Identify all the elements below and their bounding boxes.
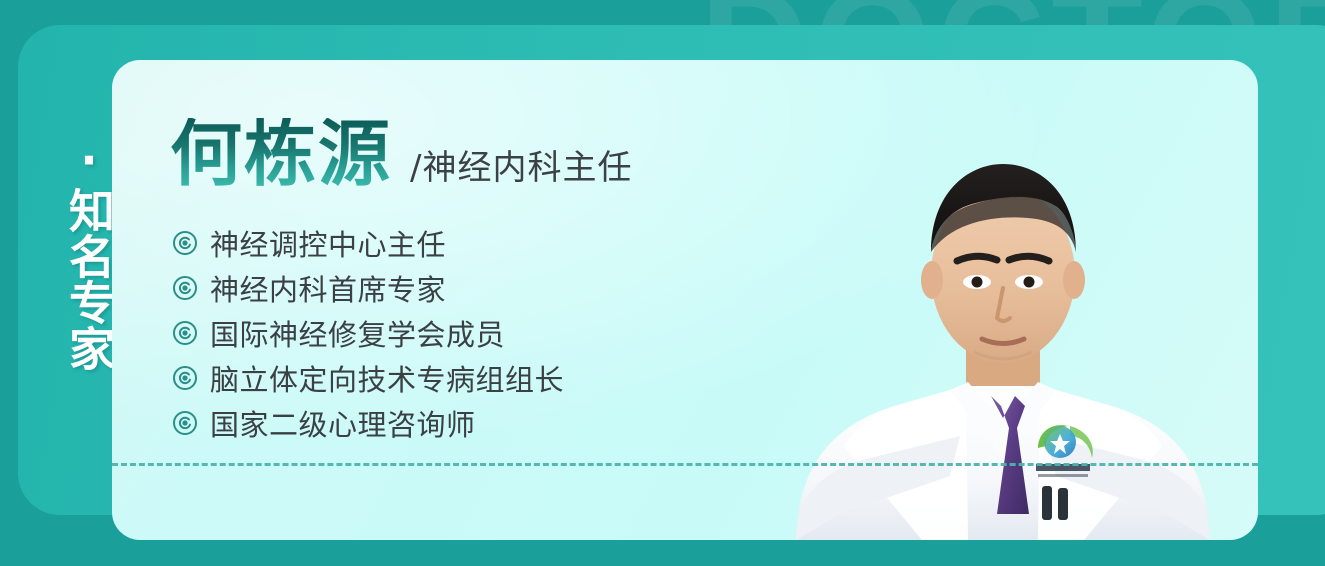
- credential-list: 神经调控中心主任 神经内科首席专家: [172, 220, 564, 445]
- credential-text: 神经内科首席专家: [210, 267, 446, 309]
- spiral-circle-icon: [172, 230, 198, 256]
- credential-text: 脑立体定向技术专病组组长: [210, 357, 564, 399]
- spiral-circle-icon: [172, 320, 198, 346]
- doctor-title: /神经内科主任: [410, 140, 632, 189]
- doctor-name: 何栋源: [170, 118, 392, 190]
- doctor-name-row: 何栋源 /神经内科主任: [170, 118, 632, 190]
- list-item: 脑立体定向技术专病组组长: [172, 355, 564, 400]
- list-item: 神经调控中心主任: [172, 220, 564, 265]
- credential-text: 国家二级心理咨询师: [210, 402, 476, 444]
- famous-expert-vertical-label: ·知名专家: [40, 112, 112, 392]
- doctor-portrait: [788, 130, 1218, 540]
- spiral-circle-icon: [172, 275, 198, 301]
- credential-text: 国际神经修复学会成员: [210, 312, 505, 354]
- list-item: 国际神经修复学会成员: [172, 310, 564, 355]
- credential-text: 神经调控中心主任: [210, 222, 446, 264]
- doctor-info-card: 何栋源 /神经内科主任 神经调控中心主任: [112, 60, 1258, 540]
- dashed-divider: [112, 463, 1258, 466]
- doctor-profile-banner: DOCTOR ·知名专家 何栋源 /神经内科主任 神经调控中心主任: [0, 0, 1325, 566]
- list-item: 神经内科首席专家: [172, 265, 564, 310]
- spiral-circle-icon: [172, 365, 198, 391]
- spiral-circle-icon: [172, 410, 198, 436]
- list-item: 国家二级心理咨询师: [172, 400, 564, 445]
